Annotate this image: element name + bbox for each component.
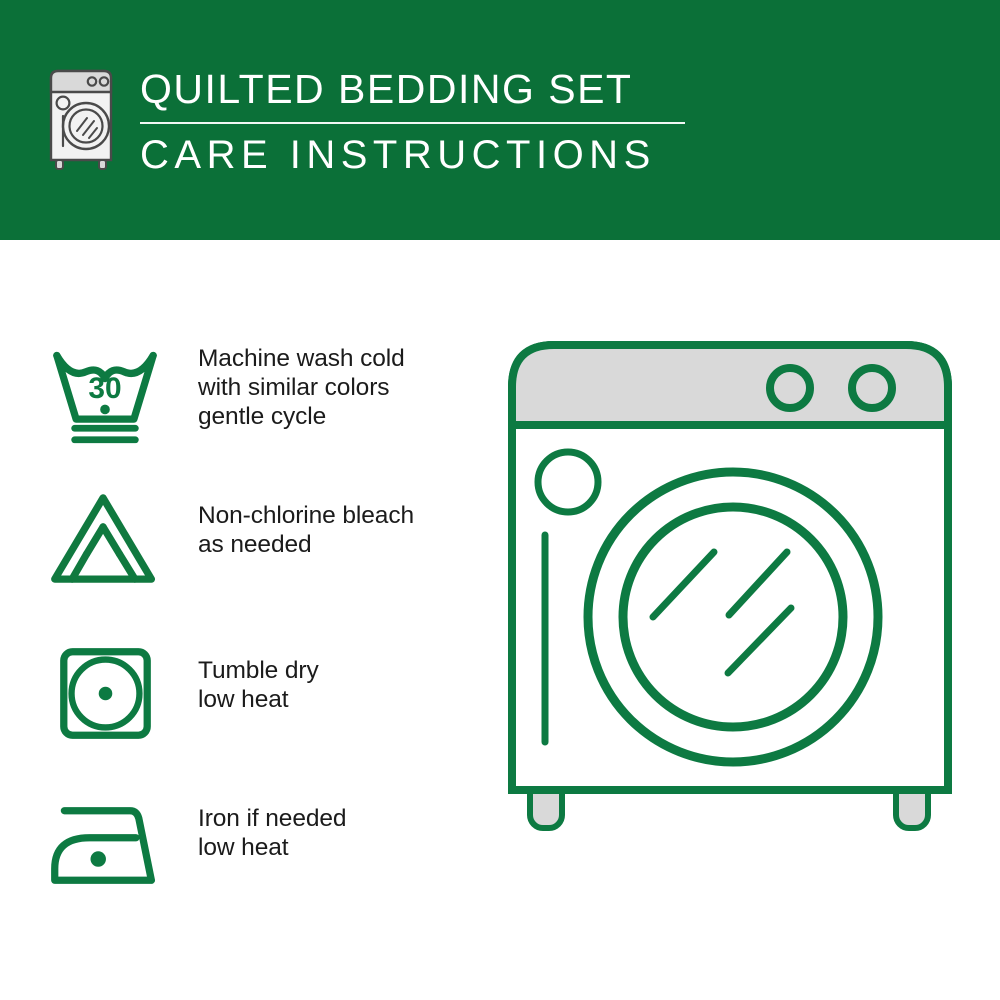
washing-machine-icon bbox=[45, 68, 117, 172]
care-text-line: Iron if needed bbox=[198, 804, 346, 833]
care-instruction-item: Iron if needed low heat bbox=[45, 790, 465, 900]
page-title: QUILTED BEDDING SET bbox=[140, 66, 700, 112]
page-subtitle: CARE INSTRUCTIONS bbox=[140, 132, 700, 178]
care-text-line: as needed bbox=[198, 530, 414, 559]
care-instruction-text: Non-chlorine bleach as needed bbox=[198, 483, 414, 559]
care-instruction-text: Iron if needed low heat bbox=[198, 790, 346, 862]
header-banner: QUILTED BEDDING SET CARE INSTRUCTIONS bbox=[0, 0, 1000, 240]
title-divider bbox=[140, 122, 685, 124]
care-instruction-item: Non-chlorine bleach as needed bbox=[45, 483, 465, 593]
care-instruction-item: Tumble dry low heat bbox=[45, 638, 465, 748]
care-text-line: gentle cycle bbox=[198, 402, 405, 431]
care-text-line: low heat bbox=[198, 833, 346, 862]
header-title-group: QUILTED BEDDING SET CARE INSTRUCTIONS bbox=[140, 66, 700, 178]
care-instructions-page: QUILTED BEDDING SET CARE INSTRUCTIONS 30 bbox=[0, 0, 1000, 1000]
care-instruction-text: Machine wash cold with similar colors ge… bbox=[198, 340, 405, 431]
care-text-line: Tumble dry bbox=[198, 656, 319, 685]
non-chlorine-bleach-triangle-icon bbox=[45, 483, 165, 593]
care-text-line: Machine wash cold bbox=[198, 344, 405, 373]
care-text-line: with similar colors bbox=[198, 373, 405, 402]
care-text-line: Non-chlorine bleach bbox=[198, 501, 414, 530]
care-instruction-item: 30 Machine wash cold with similar colors… bbox=[45, 340, 465, 450]
front-load-washing-machine-illustration bbox=[490, 330, 970, 930]
care-instruction-list: 30 Machine wash cold with similar colors… bbox=[0, 240, 480, 1000]
care-text-line: low heat bbox=[198, 685, 319, 714]
wash-temperature-value: 30 bbox=[88, 372, 121, 405]
iron-low-heat-icon bbox=[45, 790, 165, 900]
care-instruction-text: Tumble dry low heat bbox=[198, 638, 319, 714]
tumble-dry-low-heat-icon bbox=[45, 638, 165, 748]
wash-tub-30-gentle-icon: 30 bbox=[45, 340, 165, 450]
machine-control-panel bbox=[512, 345, 948, 425]
